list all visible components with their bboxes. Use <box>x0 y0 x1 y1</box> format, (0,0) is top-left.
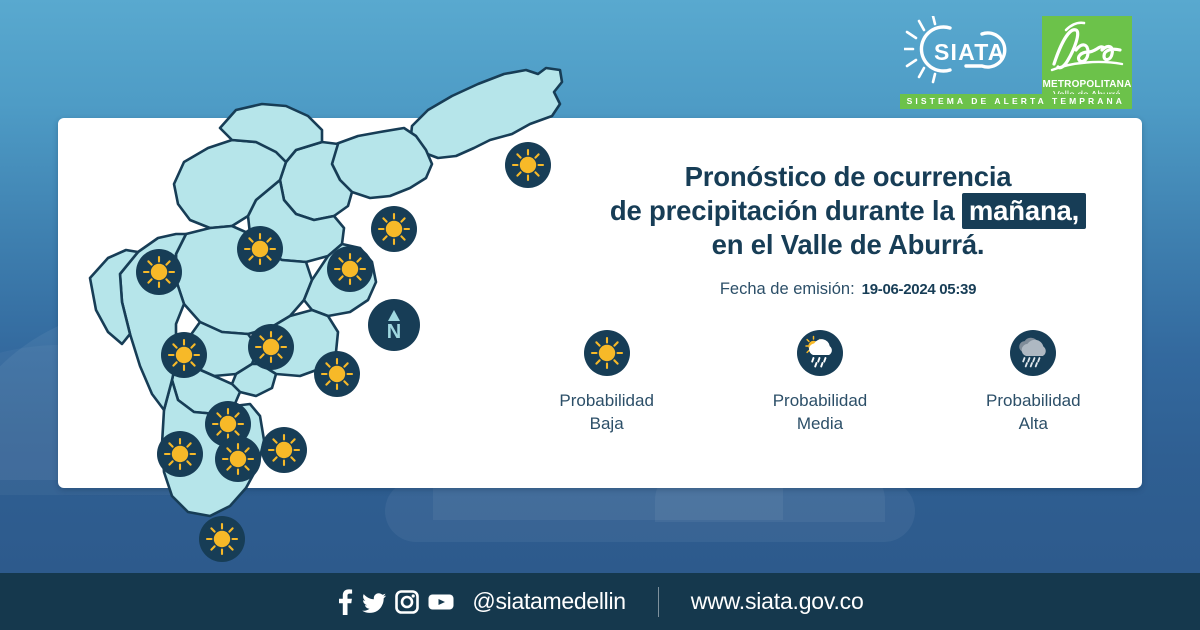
twitter-icon[interactable] <box>362 589 386 615</box>
legend-media-line2: Media <box>797 414 843 433</box>
legend-media-line1: Probabilidad <box>773 391 868 410</box>
headline-line-3: en el Valle de Aburrá. <box>560 228 1136 262</box>
valle-de-aburra-map: N <box>60 48 580 568</box>
compass-north-icon: N <box>368 299 420 351</box>
legend-baja-line2: Baja <box>590 414 624 433</box>
legend-alta-line2: Alta <box>1019 414 1048 433</box>
headline-highlight: mañana, <box>962 193 1086 229</box>
footer-bar: @siatamedellin www.siata.gov.co <box>0 573 1200 630</box>
social-icons <box>336 589 454 615</box>
sun-icon <box>237 226 283 272</box>
footer-divider <box>658 587 659 617</box>
page-title: Pronóstico de ocurrencia de precipitació… <box>560 160 1136 262</box>
sun-icon <box>157 431 203 477</box>
sun-icon <box>248 324 294 370</box>
emission-date-value: 19-06-2024 05:39 <box>862 281 976 298</box>
youtube-icon[interactable] <box>428 589 454 615</box>
headline-line-1: Pronóstico de ocurrencia <box>560 160 1136 194</box>
siata-logo: SIATA <box>904 16 1032 84</box>
emission-date: Fecha de emisión: 19-06-2024 05:39 <box>560 280 1136 299</box>
sun-icon <box>371 206 417 252</box>
area-script-icon <box>1048 20 1126 76</box>
map-shapes <box>60 48 580 568</box>
instagram-icon[interactable] <box>395 589 419 615</box>
sun-icon <box>505 142 551 188</box>
legend-label-alta: Probabilidad Alta <box>986 389 1081 435</box>
area-metropolitana-logo: METROPOLITANA Valle de Aburrá <box>1042 16 1132 106</box>
sun-icon <box>136 249 182 295</box>
sun-icon <box>199 516 245 562</box>
emission-date-label: Fecha de emisión: <box>720 280 855 299</box>
sun-icon <box>327 246 373 292</box>
legend-alta-line1: Probabilidad <box>986 391 1081 410</box>
headline-line-2-text: de precipitación durante la <box>610 195 962 226</box>
sun-icon <box>215 436 261 482</box>
logo-group: SIATA METROPOLITANA Valle de Aburrá <box>904 16 1132 106</box>
social-handle[interactable]: @siatamedellin <box>472 588 625 615</box>
siata-tagline: SISTEMA DE ALERTA TEMPRANA <box>900 94 1132 109</box>
area-logo-line1: METROPOLITANA <box>1042 79 1131 90</box>
legend-label-baja: Probabilidad Baja <box>559 389 654 435</box>
website-url[interactable]: www.siata.gov.co <box>691 588 864 615</box>
cloud-rain-icon <box>1010 330 1056 376</box>
legend-baja-line1: Probabilidad <box>559 391 654 410</box>
facebook-icon[interactable] <box>336 589 353 615</box>
forecast-text-panel: Pronóstico de ocurrencia de precipitació… <box>560 160 1136 299</box>
siata-wordmark: SIATA <box>934 39 1006 65</box>
sun-icon <box>584 330 630 376</box>
infographic-canvas: SIATA METROPOLITANA Valle de Aburrá SIST… <box>0 0 1200 630</box>
legend-label-media: Probabilidad Media <box>773 389 868 435</box>
headline-line-2: de precipitación durante la mañana, <box>560 194 1136 228</box>
legend-item-media: Probabilidad Media <box>730 330 910 435</box>
compass-label: N <box>387 321 401 343</box>
sun-icon <box>161 332 207 378</box>
legend-item-baja: Probabilidad Baja <box>517 330 697 435</box>
sun-icon <box>314 351 360 397</box>
legend-item-alta: Probabilidad Alta <box>943 330 1123 435</box>
sun-rain-icon <box>797 330 843 376</box>
probability-legend: Probabilidad Baja <box>500 330 1140 435</box>
sun-icon <box>261 427 307 473</box>
